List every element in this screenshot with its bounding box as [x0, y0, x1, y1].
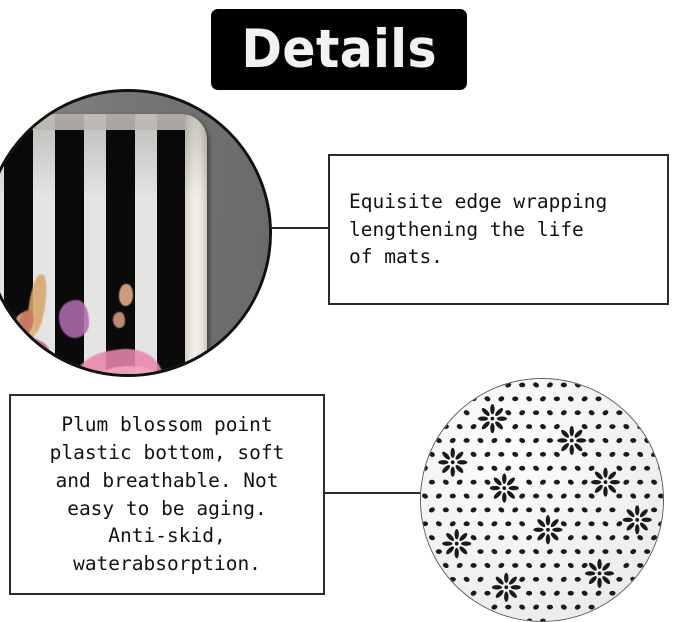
backing-dot: [588, 548, 596, 555]
backing-dot: [539, 423, 547, 430]
backing-dot: [532, 548, 540, 555]
backing-dot: [568, 591, 574, 596]
backing-dot: [470, 563, 476, 568]
plum-blossom-motif: [478, 404, 507, 433]
backing-dot: [539, 590, 547, 597]
backing-dot: [498, 506, 506, 513]
backing-dot: [539, 506, 547, 513]
backing-dot: [546, 492, 554, 499]
backing-dot: [595, 506, 603, 513]
backing-dot: [525, 451, 533, 458]
backing-dot: [622, 590, 630, 597]
details-banner: Details: [211, 9, 467, 90]
backing-dot: [436, 383, 442, 388]
backing-dot: [560, 520, 568, 527]
backing-dot: [443, 591, 449, 596]
photo-striped-mat-closeup: [0, 89, 272, 377]
backing-dot: [651, 508, 657, 513]
backing-dot: [581, 395, 589, 402]
backing-dot: [546, 576, 554, 583]
plum-blossom-motif: [585, 559, 614, 588]
backing-dot: [429, 563, 435, 568]
backing-dot: [595, 423, 603, 430]
backing-dot: [650, 395, 658, 402]
callout-plum-blossom-bottom: Plum blossom point plastic bottom, soft …: [9, 394, 325, 595]
backing-dot: [477, 576, 485, 583]
backing-dot: [505, 605, 511, 610]
backing-dot: [470, 423, 478, 430]
backing-dot: [644, 383, 650, 388]
backing-dot: [588, 492, 596, 499]
backing-dot: [450, 410, 456, 415]
backing-dot: [526, 424, 532, 429]
backing-dot: [651, 424, 657, 429]
backing-dot: [443, 508, 449, 513]
backing-dot: [629, 576, 637, 583]
connector-line-plum-blossom: [324, 492, 432, 494]
backing-dot: [491, 604, 499, 611]
backing-dot: [582, 535, 588, 540]
plum-blossom-motif: [438, 448, 467, 477]
backing-dot: [463, 492, 471, 499]
backing-dot: [450, 577, 456, 582]
backing-dot: [504, 548, 512, 555]
backing-dot: [456, 423, 464, 430]
backing-dot: [657, 548, 663, 555]
backing-dot: [609, 451, 617, 458]
backing-dot: [554, 396, 560, 401]
backing-dot: [464, 438, 470, 443]
backing-dot: [512, 563, 518, 568]
backing-dot: [581, 506, 589, 513]
backing-dot: [588, 465, 596, 472]
backing-dot: [575, 410, 581, 415]
backing-dot: [532, 381, 540, 388]
backing-dot: [595, 590, 603, 597]
backing-dot: [616, 520, 624, 527]
backing-dot: [616, 494, 622, 499]
backing-dot: [574, 465, 582, 472]
backing-dot: [498, 619, 504, 621]
backing-dot: [609, 424, 615, 429]
backing-dot: [657, 381, 663, 388]
backing-dot: [539, 562, 547, 569]
backing-dot: [588, 409, 596, 416]
backing-dot: [589, 438, 595, 443]
backing-dot: [595, 451, 603, 458]
backing-dot: [602, 549, 608, 554]
backing-dot: [658, 494, 663, 499]
backing-dot: [484, 591, 490, 596]
backing-dot: [629, 409, 637, 416]
backing-dot: [435, 409, 443, 416]
backing-dot: [643, 604, 651, 611]
backing-dot: [491, 465, 499, 472]
backing-dot: [498, 395, 506, 402]
backing-dot: [630, 605, 636, 610]
plum-blossom-motif: [533, 515, 562, 544]
backing-dot: [622, 479, 630, 486]
callout-edge-wrapping: Equisite edge wrapping lengthening the l…: [328, 154, 669, 305]
backing-dot: [532, 604, 540, 611]
backing-dot: [429, 396, 435, 401]
backing-dot: [561, 549, 567, 554]
backing-dot: [588, 381, 596, 388]
backing-dot: [435, 492, 443, 499]
backing-dot: [595, 396, 601, 401]
backing-dot: [477, 383, 483, 388]
backing-dot: [435, 576, 443, 583]
backing-dot: [561, 466, 567, 471]
backing-dot: [582, 452, 588, 457]
backing-dot: [504, 381, 512, 388]
backing-dot: [623, 452, 629, 457]
backing-dot: [421, 465, 429, 472]
backing-dot: [498, 535, 504, 540]
backing-dot: [518, 492, 526, 499]
backing-dot: [581, 590, 589, 597]
backing-dot: [484, 508, 490, 513]
backing-dot: [581, 423, 589, 430]
backing-dot: [422, 521, 428, 526]
backing-dot: [574, 520, 582, 527]
backing-dot: [463, 409, 471, 416]
backing-dot: [636, 451, 644, 458]
backing-dot: [449, 520, 457, 527]
backing-dot: [484, 451, 492, 458]
backing-dot: [525, 562, 533, 569]
backing-dot: [589, 521, 595, 526]
backing-dot: [477, 466, 483, 471]
backing-dot: [449, 381, 457, 388]
backing-dot: [546, 548, 554, 555]
callout-plum-blossom-bottom-text: Plum blossom point plastic bottom, soft …: [11, 411, 323, 577]
backing-dot: [533, 577, 539, 582]
backing-dot: [602, 520, 610, 527]
backing-dot: [553, 590, 561, 597]
backing-dot: [657, 465, 663, 472]
backing-dot: [428, 590, 436, 597]
backing-dot: [650, 479, 658, 486]
backing-dot: [540, 619, 546, 621]
backing-dot: [546, 465, 554, 472]
backing-dot: [525, 395, 533, 402]
backing-dot: [560, 492, 568, 499]
backing-dot: [533, 410, 539, 415]
backing-dot: [456, 395, 464, 402]
backing-dot: [435, 437, 443, 444]
backing-dot: [547, 605, 553, 610]
backing-dot: [644, 466, 650, 471]
backing-dot: [616, 381, 624, 388]
backing-dot: [658, 577, 663, 582]
backing-dot: [449, 604, 457, 611]
backing-dot: [574, 381, 582, 388]
backing-dot: [477, 437, 485, 444]
backing-dot: [650, 534, 658, 541]
backing-dot: [470, 506, 478, 513]
page-title: Details: [241, 23, 436, 76]
backing-dot: [504, 465, 512, 472]
backing-dot: [518, 604, 526, 611]
backing-dot: [539, 395, 547, 402]
backing-dot: [595, 534, 603, 541]
backing-dot: [644, 549, 650, 554]
backing-dot: [581, 479, 589, 486]
backing-dot: [525, 534, 533, 541]
backing-dot: [560, 576, 568, 583]
backing-dot: [560, 409, 568, 416]
backing-dot: [553, 451, 561, 458]
plum-blossom-motif: [442, 529, 471, 558]
backing-dot: [456, 506, 464, 513]
backing-dot: [477, 604, 485, 611]
backing-dot: [622, 562, 630, 569]
backing-dot: [421, 492, 429, 499]
backing-dot: [449, 437, 457, 444]
backing-dot: [421, 381, 429, 388]
backing-dot: [442, 395, 450, 402]
backing-dot: [609, 534, 617, 541]
backing-dot: [532, 437, 540, 444]
backing-dot: [546, 409, 554, 416]
backing-dot: [477, 549, 483, 554]
backing-dot: [616, 437, 624, 444]
backing-dot: [623, 535, 629, 540]
backing-dot: [428, 506, 436, 513]
backing-dot: [422, 438, 428, 443]
backing-dot: [554, 563, 560, 568]
backing-dot: [512, 396, 518, 401]
backing-dot: [636, 590, 644, 597]
backing-dot: [568, 508, 574, 513]
connector-line-edge-wrapping: [272, 227, 330, 229]
backing-dot: [609, 591, 615, 596]
backing-dot: [511, 506, 519, 513]
backing-dot: [428, 451, 436, 458]
backing-dot: [636, 423, 644, 430]
backing-dot: [616, 548, 624, 555]
backing-dot: [629, 548, 637, 555]
backing-dot: [561, 383, 567, 388]
detail-page: Details Equisite edge wrapping lengtheni…: [0, 0, 679, 618]
plum-blossom-motif: [623, 505, 652, 534]
backing-dot: [511, 534, 519, 541]
backing-dot: [422, 605, 428, 610]
backing-dot: [567, 395, 575, 402]
backing-dot: [629, 465, 637, 472]
backing-dot: [637, 396, 643, 401]
plum-blossom-dot-pattern: [421, 379, 663, 621]
backing-dot: [539, 479, 547, 486]
backing-dot: [470, 480, 476, 485]
backing-dot: [519, 383, 525, 388]
backing-dot: [602, 409, 610, 416]
backing-dot: [498, 562, 506, 569]
backing-dot: [491, 437, 499, 444]
backing-dot: [567, 562, 575, 569]
backing-dot: [435, 520, 443, 527]
backing-dot: [470, 451, 478, 458]
backing-dot: [456, 479, 464, 486]
backing-dot: [650, 451, 658, 458]
backing-dot: [519, 549, 525, 554]
mat-shading: [0, 114, 207, 377]
backing-dot: [622, 423, 630, 430]
backing-dot: [442, 562, 450, 569]
backing-dot: [602, 437, 610, 444]
backing-dot: [525, 479, 533, 486]
backing-dot: [643, 492, 651, 499]
backing-dot: [526, 591, 532, 596]
backing-dot: [456, 562, 464, 569]
backing-dot: [470, 534, 478, 541]
backing-dot: [463, 381, 471, 388]
backing-dot: [429, 480, 435, 485]
backing-dot: [421, 409, 429, 416]
backing-dot: [435, 604, 443, 611]
backing-dot: [484, 562, 492, 569]
backing-dot: [428, 423, 436, 430]
callout-edge-wrapping-text: Equisite edge wrapping lengthening the l…: [330, 188, 613, 271]
backing-dot: [421, 576, 429, 583]
backing-dot: [470, 396, 476, 401]
backing-dot: [519, 466, 525, 471]
backing-dot: [464, 605, 470, 610]
backing-dot: [505, 521, 511, 526]
backing-dot: [505, 438, 511, 443]
backing-dot: [616, 577, 622, 582]
backing-dot: [657, 604, 663, 611]
backing-dot: [643, 437, 651, 444]
backing-dot: [554, 480, 560, 485]
backing-dot: [616, 410, 622, 415]
backing-dot: [511, 451, 519, 458]
backing-dot: [643, 409, 651, 416]
backing-dot: [553, 423, 561, 430]
backing-dot: [609, 508, 615, 513]
backing-dot: [637, 480, 643, 485]
backing-dot: [560, 604, 568, 611]
backing-dot: [484, 534, 492, 541]
backing-dot: [650, 562, 658, 569]
backing-dot: [443, 424, 449, 429]
photo-plum-blossom-backing: [420, 378, 664, 622]
backing-dot: [616, 465, 624, 472]
backing-dot: [574, 548, 582, 555]
backing-dot: [477, 520, 485, 527]
backing-dot: [622, 395, 630, 402]
backing-dot: [464, 521, 470, 526]
backing-dot: [636, 534, 644, 541]
plum-blossom-motif: [591, 468, 620, 497]
backing-dot: [637, 563, 643, 568]
plum-blossom-motif: [492, 573, 521, 602]
plum-blossom-motif: [490, 474, 519, 503]
backing-dot: [456, 590, 464, 597]
backing-dot: [477, 492, 485, 499]
backing-dot: [630, 438, 636, 443]
backing-dot: [518, 409, 526, 416]
backing-dot: [498, 452, 504, 457]
backing-dot: [533, 494, 539, 499]
plum-blossom-motif: [557, 426, 586, 455]
backing-dot: [582, 619, 588, 621]
backing-dot: [484, 479, 492, 486]
backing-dot: [574, 604, 582, 611]
backing-dot: [616, 604, 624, 611]
backing-dot: [526, 508, 532, 513]
backing-dot: [651, 591, 657, 596]
backing-dot: [421, 548, 429, 555]
backing-dot: [504, 409, 512, 416]
backing-dot: [457, 619, 463, 621]
backing-dot: [629, 492, 637, 499]
backing-dot: [484, 395, 492, 402]
backing-dot: [518, 437, 526, 444]
backing-dot: [442, 479, 450, 486]
backing-dot: [602, 604, 610, 611]
backing-dot: [491, 548, 499, 555]
backing-dot: [518, 520, 526, 527]
backing-dot: [470, 590, 478, 597]
backing-dot: [575, 494, 581, 499]
backing-dot: [547, 438, 553, 443]
backing-dot: [575, 577, 581, 582]
backing-dot: [567, 534, 575, 541]
backing-dot: [518, 576, 526, 583]
backing-dot: [436, 549, 442, 554]
backing-dot: [428, 534, 436, 541]
backing-dot: [581, 562, 589, 569]
backing-dot: [463, 576, 471, 583]
backing-dot: [511, 423, 519, 430]
mat-surface: [0, 114, 207, 377]
backing-dot: [629, 381, 637, 388]
backing-dot: [491, 520, 499, 527]
backing-dot: [589, 605, 595, 610]
backing-dot: [546, 381, 554, 388]
backing-dot: [491, 381, 499, 388]
backing-dot: [567, 479, 575, 486]
backing-dot: [450, 494, 456, 499]
backing-dot: [623, 619, 629, 621]
backing-dot: [532, 465, 540, 472]
backing-dot: [657, 437, 663, 444]
backing-dot: [602, 383, 608, 388]
backing-dot: [540, 452, 546, 457]
backing-dot: [643, 576, 651, 583]
backing-dot: [609, 395, 617, 402]
backing-dot: [657, 520, 663, 527]
backing-dot: [553, 506, 561, 513]
backing-dot: [658, 410, 663, 415]
